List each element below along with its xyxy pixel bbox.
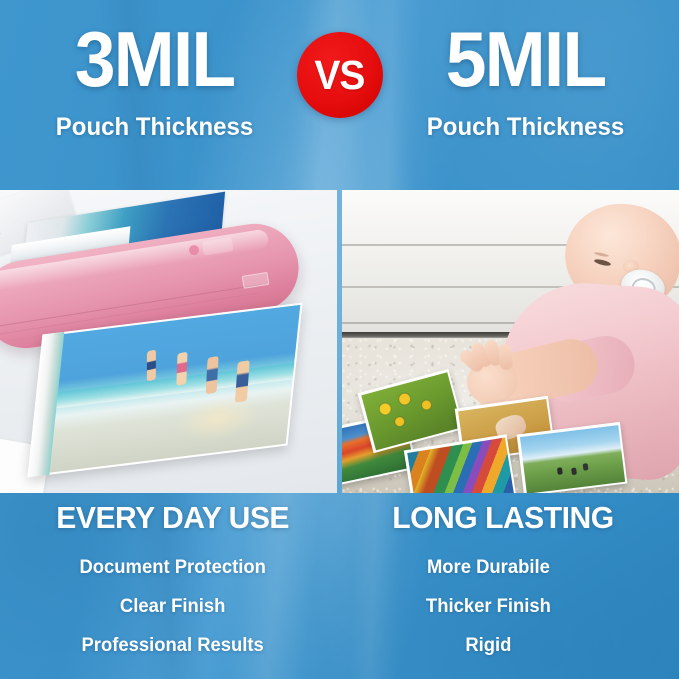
- beach-photo-figure: [177, 351, 188, 385]
- beach-photo-figure: [147, 350, 156, 382]
- vs-badge-label: VS: [314, 52, 364, 99]
- feature-item: Thicker Finish: [345, 597, 674, 616]
- feature-heading-left: EVERY DAY USE: [5, 500, 334, 536]
- product-photo-panels: [0, 190, 679, 493]
- photo-left-laminator: [0, 190, 337, 493]
- feature-lists: EVERY DAY USE Document Protection Clear …: [0, 500, 679, 679]
- feature-item: Clear Finish: [5, 597, 334, 616]
- comparison-header: 3MIL Pouch Thickness VS 5MIL Pouch Thick…: [0, 14, 679, 178]
- feature-column-right: LONG LASTING More Durabile Thicker Finis…: [340, 500, 679, 679]
- left-thickness-subtitle: Pouch Thickness: [17, 114, 291, 142]
- card-image: [519, 425, 624, 493]
- laminated-card: [517, 422, 628, 493]
- feature-item: More Durabile: [345, 558, 674, 577]
- right-thickness-subtitle: Pouch Thickness: [388, 114, 662, 142]
- feature-item: Professional Results: [5, 636, 334, 655]
- header-column-left: 3MIL Pouch Thickness: [12, 14, 297, 142]
- feature-column-left: EVERY DAY USE Document Protection Clear …: [0, 500, 340, 679]
- baby-finger: [498, 343, 514, 370]
- feature-heading-right: LONG LASTING: [345, 500, 674, 536]
- header-column-right: 5MIL Pouch Thickness: [383, 14, 668, 142]
- feature-item: Document Protection: [5, 558, 334, 577]
- beach-photo-figure: [235, 360, 250, 403]
- right-thickness-title: 5MIL: [391, 20, 659, 98]
- beach-photo-sea: [36, 363, 294, 411]
- photo-right-baby: [342, 190, 679, 493]
- feature-item: Rigid: [345, 636, 674, 655]
- vs-badge: VS: [297, 32, 383, 118]
- left-thickness-title: 3MIL: [20, 20, 288, 98]
